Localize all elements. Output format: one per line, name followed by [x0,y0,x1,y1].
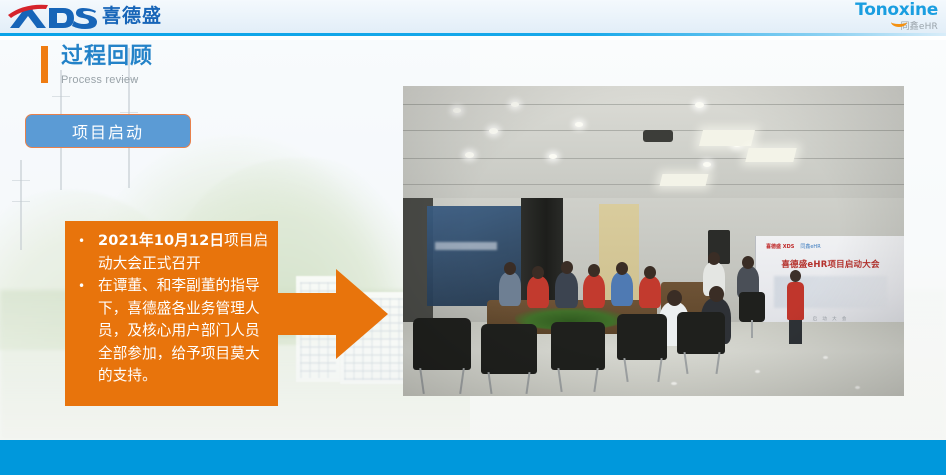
page-subtitle: Process review [61,73,153,87]
photo-floor-reflection-2 [755,370,760,373]
photo-downlight-1 [453,108,461,113]
photo-projection-title: 喜德盛eHR项目启动大会 [756,258,904,270]
xds-brand-cn: 喜德盛 [102,2,162,31]
callout-box: 2021年10月12日项目启动大会正式召开 在谭董、和李副董的指导下，喜德盛各业… [65,221,278,406]
tonoxine-brand: Tonoxine [842,2,938,19]
photo-floor-reflection-4 [671,382,677,385]
bullet-2-text: 在谭董、和李副董的指导下，喜德盛各业务管理人员，及核心用户部门人员全部参加，给予… [98,277,260,384]
photo-ceiling-line-3 [403,158,904,159]
presentation-slide: 喜德盛 Tonoxine 同鑫eHR 过程回顾 Process review 项… [0,0,946,475]
title-accent-bar [41,46,48,83]
photo-office-chair [739,292,765,322]
photo-presenter-body [787,282,804,320]
photo-attendee-head [708,252,720,265]
photo-chair [413,318,471,370]
photo-downlight-4 [465,152,474,158]
xds-wordmark-icon [8,2,100,31]
list-item: 在谭董、和李副董的指导下，喜德盛各业务管理人员，及核心用户部门人员全部参加，给予… [71,275,270,388]
tonoxine-smile-icon [891,17,907,27]
photo-chair [551,322,605,370]
photo-attendee [527,276,549,308]
stage-button-project-kickoff[interactable]: 项目启动 [25,114,191,148]
photo-attendee-head [504,262,516,275]
photo-downlight-2 [511,102,519,107]
photo-attendee-head [644,266,656,279]
photo-presenter-legs [789,318,802,344]
conference-photo: 喜德盛 XDS 同鑫eHR 喜德盛eHR项目启动大会 启 动 大 会 [403,86,904,396]
title-text-wrap: 过程回顾 Process review [61,44,153,87]
photo-attendee-front-head [709,286,724,302]
page-title: 过程回顾 [61,44,153,70]
photo-attendee [499,272,521,306]
photo-projector [643,130,673,142]
photo-projection-logo-right: 同鑫eHR [800,243,820,250]
photo-ceiling-panel-1 [699,130,755,146]
xds-logo: 喜德盛 [8,1,162,32]
photo-attendee-head [588,264,600,277]
photo-side-display-content [435,242,497,250]
photo-downlight-6 [549,154,557,159]
photo-floor-reflection-3 [823,356,828,359]
stage-button-label: 项目启动 [72,119,144,143]
photo-projection-logo-left: 喜德盛 XDS [766,243,794,250]
photo-chair [677,312,725,354]
photo-attendee-head [742,256,754,269]
footer-bar [0,440,946,475]
photo-attendee [583,274,605,308]
photo-attendee-head [561,261,573,274]
photo-attendee [639,276,661,308]
photo-downlight-7 [695,102,704,108]
page-title-block: 过程回顾 Process review [41,44,153,87]
bullet-1-emphasis: 2021年10月12日 [98,232,224,249]
photo-ceiling-panel-3 [660,174,709,186]
photo-ceiling-line-1 [403,104,904,105]
photo-attendee-head [616,262,628,275]
tonoxine-logo: Tonoxine 同鑫eHR [842,1,938,32]
photo-projection-logos: 喜德盛 XDS 同鑫eHR [756,242,904,251]
photo-office-chair-post [751,320,753,338]
photo-attendee [611,272,633,306]
photo-chair [617,314,667,360]
photo-downlight-3 [489,128,498,134]
photo-ceiling-panel-2 [745,148,796,162]
photo-attendee-front-head [667,290,682,306]
callout-bullet-list: 2021年10月12日项目启动大会正式召开 在谭董、和李副董的指导下，喜德盛各业… [71,230,270,388]
photo-presenter-head [790,270,801,282]
photo-attendee-head [532,266,544,279]
photo-chair [481,324,537,374]
photo-ceiling-line-4 [403,184,904,185]
header-divider [0,33,946,36]
photo-attendee [555,272,578,308]
right-arrow-icon [270,267,388,361]
photo-downlight-9 [703,162,711,167]
photo-downlight-5 [575,122,583,127]
photo-floor-reflection-5 [855,386,860,389]
tonoxine-sub-brand: 同鑫eHR [842,22,938,33]
list-item: 2021年10月12日项目启动大会正式召开 [71,230,270,275]
